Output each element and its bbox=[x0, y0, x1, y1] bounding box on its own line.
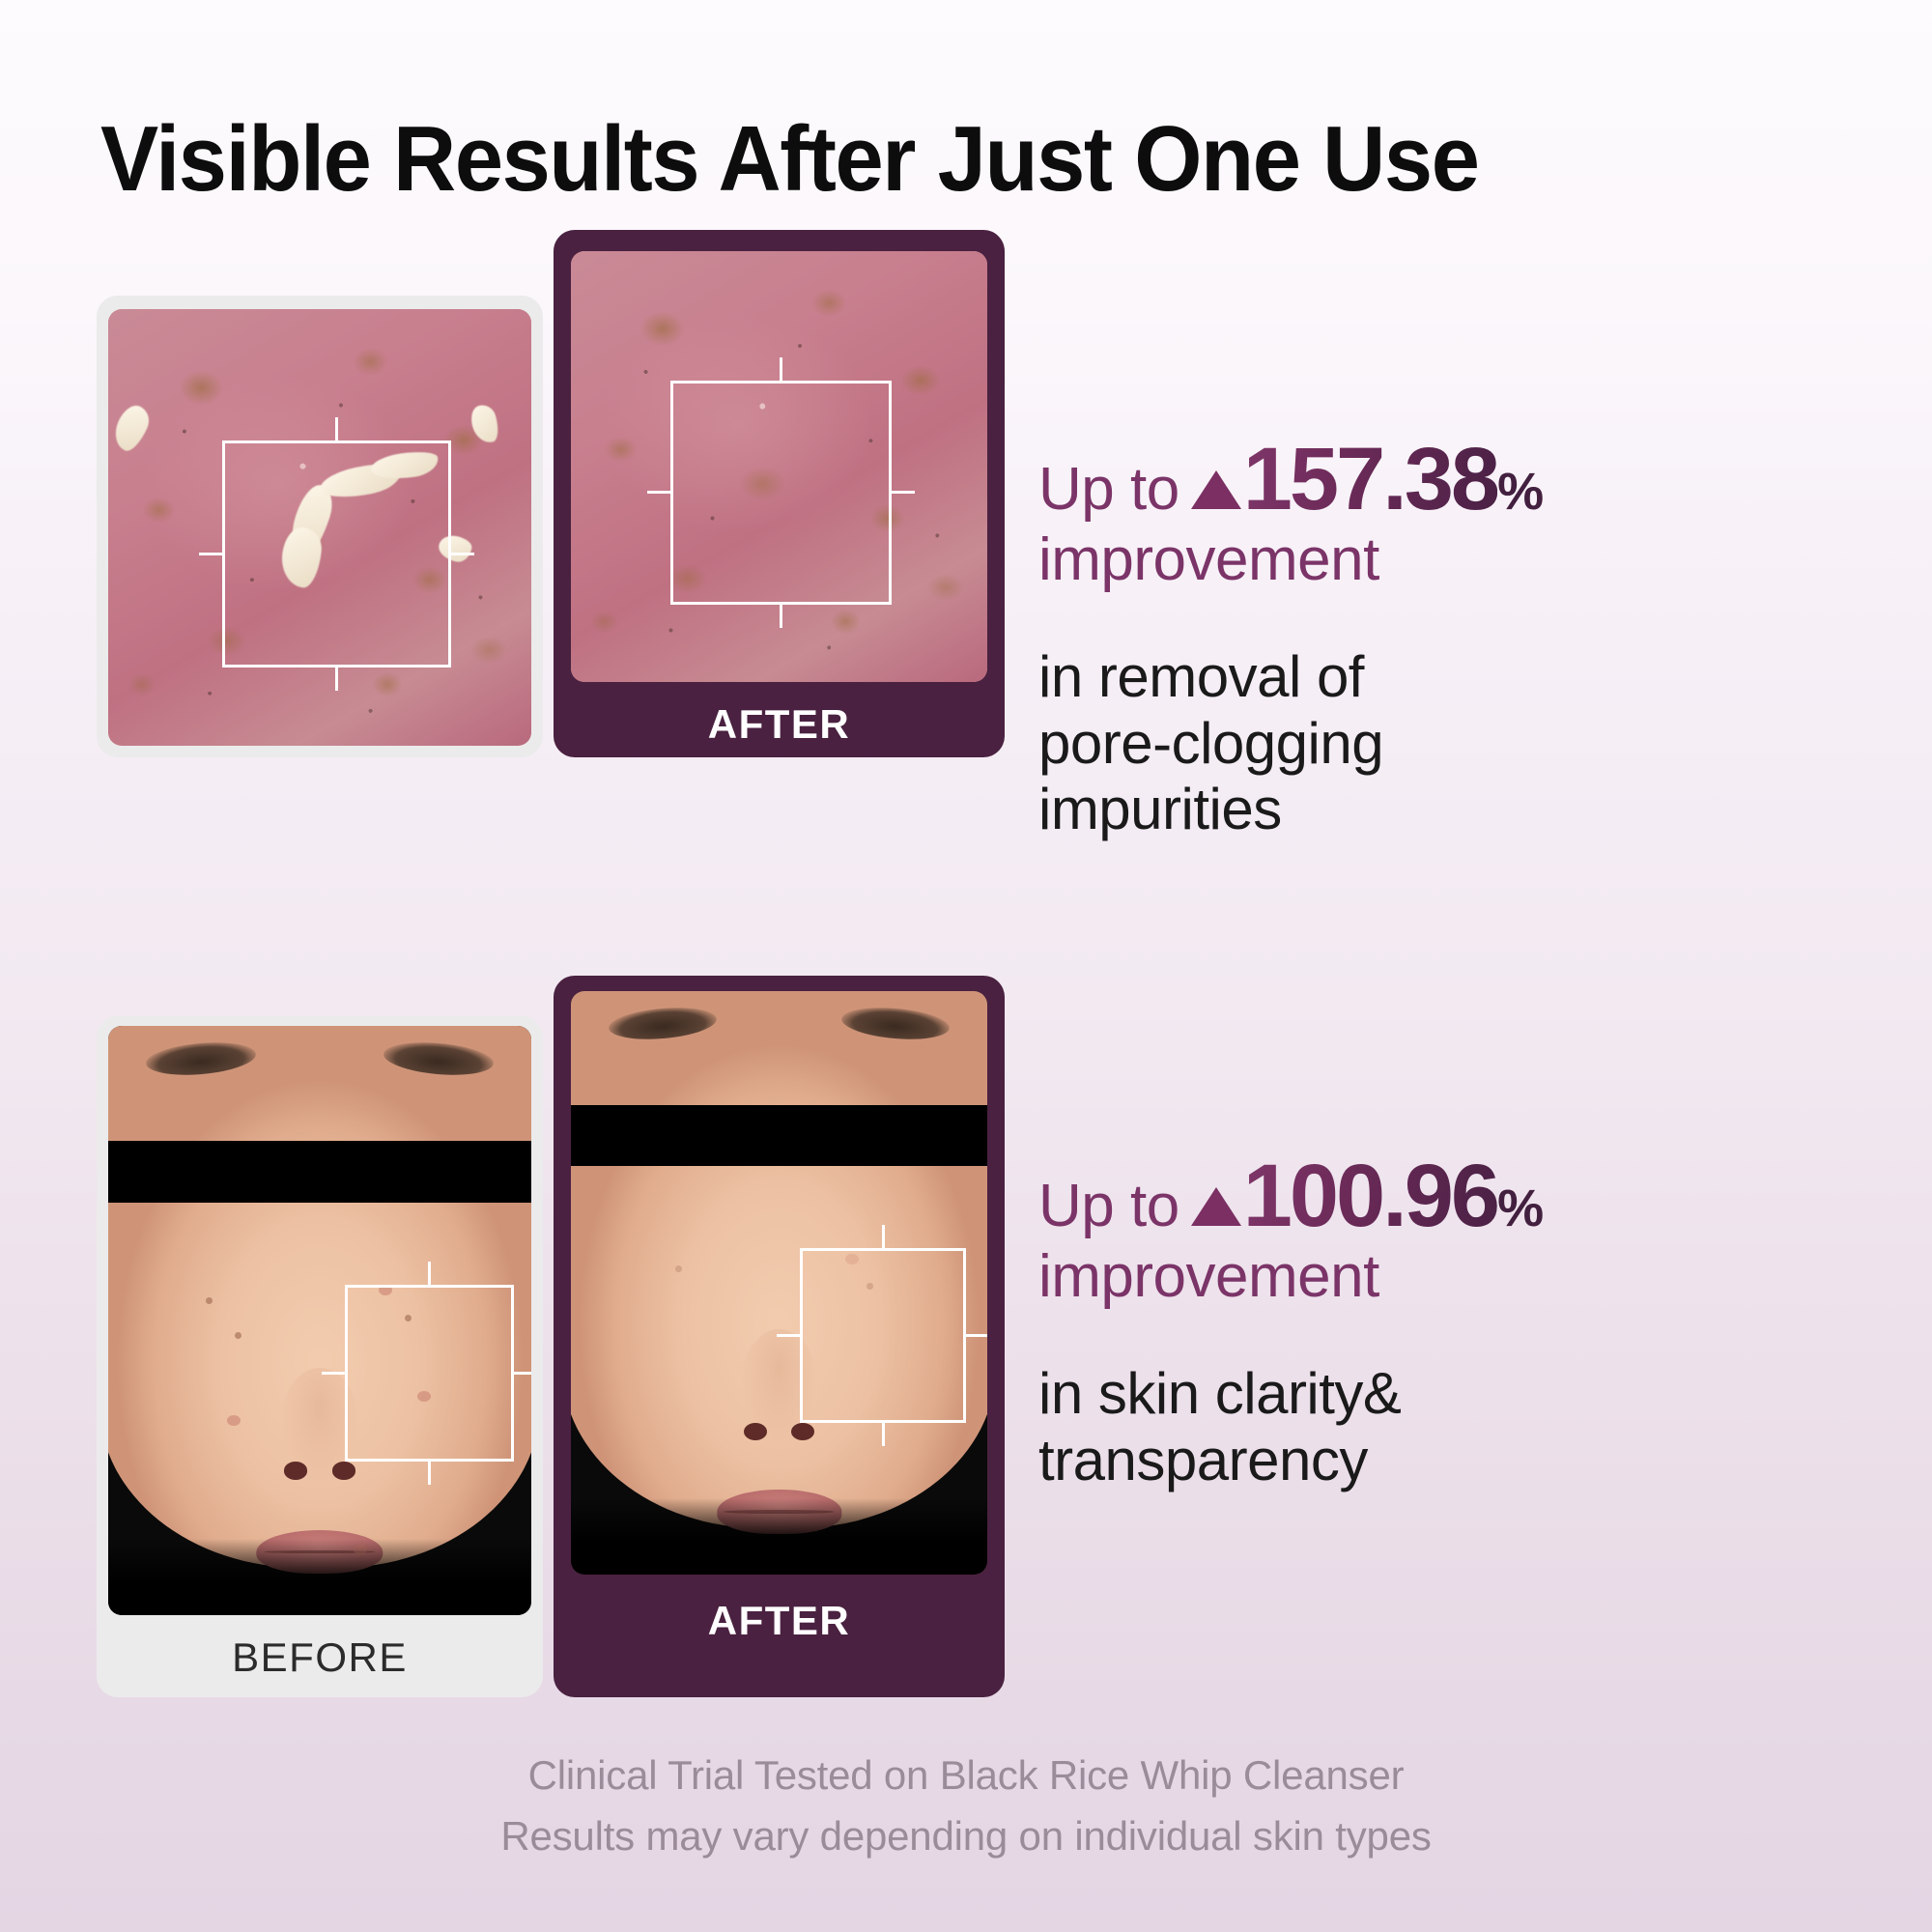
card-after-face[interactable]: AFTER bbox=[554, 976, 1005, 1697]
stat-description-line: impurities bbox=[1038, 777, 1543, 842]
results-row-2: BEFORE bbox=[97, 1016, 1009, 1697]
card-before-micrograph[interactable]: BEFORE bbox=[97, 296, 543, 757]
card-label-after: AFTER bbox=[554, 1598, 1005, 1644]
footer-disclaimer: Clinical Trial Tested on Black Rice Whip… bbox=[0, 1745, 1932, 1866]
face-after-image bbox=[571, 991, 987, 1575]
stat-improvement-label: improvement bbox=[1038, 1242, 1543, 1311]
stat-headline: Up to100.96% bbox=[1038, 1151, 1543, 1240]
footer-line-2: Results may vary depending on individual… bbox=[0, 1805, 1932, 1866]
card-label-before: BEFORE bbox=[97, 1634, 543, 1681]
privacy-censor-bar bbox=[571, 1105, 987, 1166]
page-title: Visible Results After Just One Use bbox=[100, 106, 1478, 213]
stat-value: 157.38 bbox=[1243, 430, 1497, 528]
stat-prefix: Up to bbox=[1038, 456, 1179, 523]
stat-unit: % bbox=[1497, 1179, 1543, 1237]
stat-description-line: transparency bbox=[1038, 1428, 1543, 1493]
stat-description: in skin clarity& transparency bbox=[1038, 1361, 1543, 1493]
face-before-image bbox=[108, 1026, 531, 1615]
stat-block-2: Up to100.96% improvement in skin clarity… bbox=[1038, 1151, 1543, 1493]
face-photo bbox=[108, 1026, 531, 1615]
footer-line-1: Clinical Trial Tested on Black Rice Whip… bbox=[0, 1745, 1932, 1805]
results-row-1: BEFORE AFTER bbox=[97, 296, 1009, 757]
stat-description: in removal of pore-clogging impurities bbox=[1038, 644, 1543, 842]
stat-value: 100.96 bbox=[1243, 1147, 1497, 1245]
stat-prefix: Up to bbox=[1038, 1173, 1179, 1239]
card-label-after: AFTER bbox=[554, 701, 1005, 748]
micrograph-before-image bbox=[108, 309, 531, 746]
stat-description-line: pore-clogging bbox=[1038, 711, 1543, 777]
face-photo bbox=[571, 991, 987, 1575]
stat-description-line: in skin clarity& bbox=[1038, 1361, 1543, 1427]
privacy-censor-bar bbox=[108, 1141, 531, 1203]
card-before-face[interactable]: BEFORE bbox=[97, 1016, 543, 1697]
up-triangle-icon bbox=[1191, 470, 1241, 509]
micrograph-after-image bbox=[571, 251, 987, 682]
up-triangle-icon bbox=[1191, 1187, 1241, 1226]
stat-improvement-label: improvement bbox=[1038, 526, 1543, 594]
stat-unit: % bbox=[1497, 463, 1543, 521]
card-after-micrograph[interactable]: AFTER bbox=[554, 230, 1005, 757]
stat-description-line: in removal of bbox=[1038, 644, 1543, 710]
skin-texture bbox=[571, 251, 987, 682]
stat-headline: Up to157.38% bbox=[1038, 435, 1543, 524]
stat-block-1: Up to157.38% improvement in removal of p… bbox=[1038, 435, 1543, 842]
